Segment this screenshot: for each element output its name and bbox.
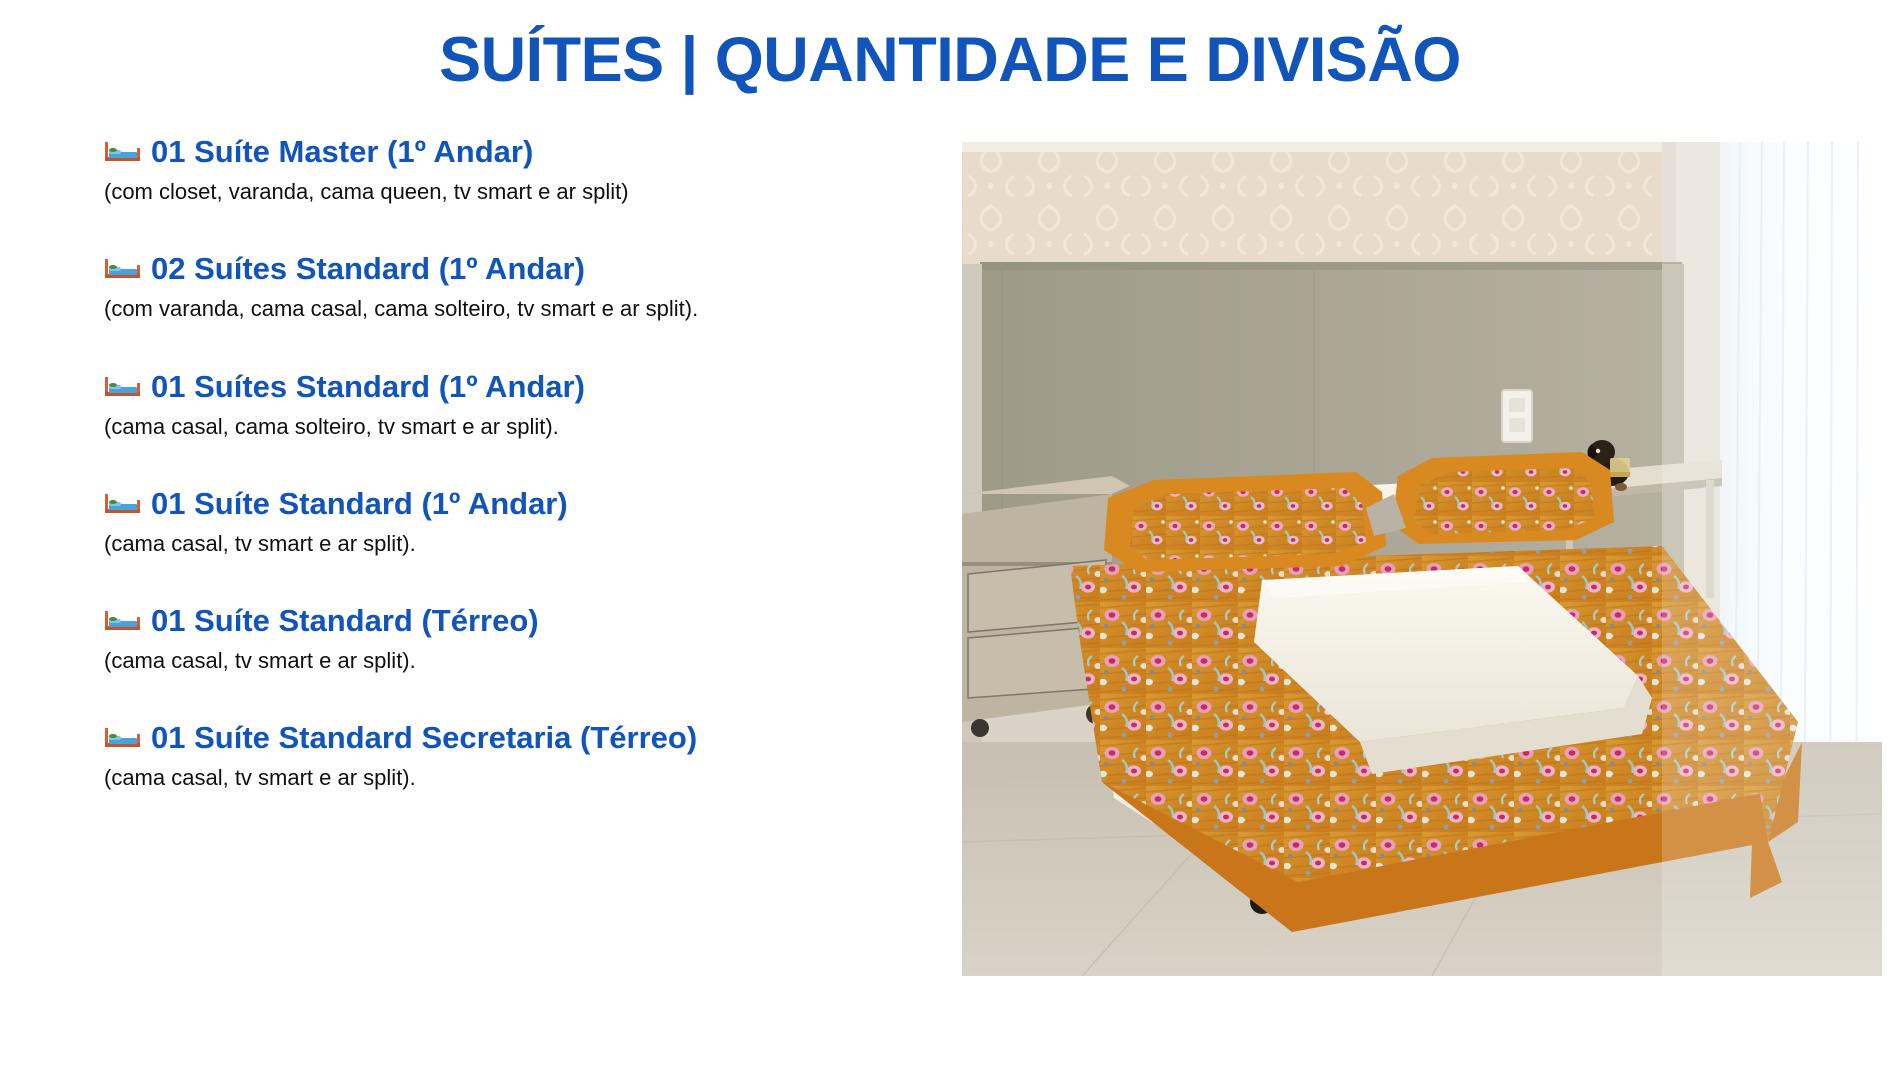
suite-heading: 01 Suíte Master (1º Andar) bbox=[151, 136, 533, 167]
bed-icon bbox=[104, 609, 142, 632]
suite-details: (cama casal, tv smart e ar split). bbox=[104, 765, 934, 790]
suite-heading-row: 02 Suítes Standard (1º Andar) bbox=[104, 253, 934, 284]
pillow-left bbox=[1104, 472, 1386, 572]
light-switch-icon bbox=[1502, 390, 1532, 442]
list-item: 01 Suíte Standard (1º Andar) (cama casal… bbox=[104, 488, 934, 556]
bedroom-photo bbox=[962, 142, 1882, 976]
bed-icon bbox=[104, 257, 142, 280]
list-item: 01 Suíte Master (1º Andar) (com closet, … bbox=[104, 136, 934, 204]
suite-heading-row: 01 Suíte Master (1º Andar) bbox=[104, 136, 934, 167]
suite-heading-row: 01 Suíte Standard (1º Andar) bbox=[104, 488, 934, 519]
list-item: 01 Suíte Standard Secretaria (Térreo) (c… bbox=[104, 722, 934, 790]
suite-heading: 01 Suíte Standard (Térreo) bbox=[151, 605, 539, 636]
bed-icon bbox=[104, 492, 142, 515]
suite-heading-row: 01 Suíte Standard Secretaria (Térreo) bbox=[104, 722, 934, 753]
suite-details: (cama casal, tv smart e ar split). bbox=[104, 648, 934, 673]
suite-heading-row: 01 Suítes Standard (1º Andar) bbox=[104, 371, 934, 402]
slide-root: SUÍTES | QUANTIDADE E DIVISÃO 01 Suíte M… bbox=[0, 0, 1900, 1069]
suite-details: (cama casal, tv smart e ar split). bbox=[104, 531, 934, 556]
page-title: SUÍTES | QUANTIDADE E DIVISÃO bbox=[0, 24, 1900, 96]
list-item: 01 Suíte Standard (Térreo) (cama casal, … bbox=[104, 605, 934, 673]
list-item: 01 Suítes Standard (1º Andar) (cama casa… bbox=[104, 371, 934, 439]
bed-icon bbox=[104, 140, 142, 163]
pillow-right bbox=[1392, 452, 1614, 544]
suite-details: (com closet, varanda, cama queen, tv sma… bbox=[104, 179, 934, 204]
suite-heading-row: 01 Suíte Standard (Térreo) bbox=[104, 605, 934, 636]
suite-details: (com varanda, cama casal, cama solteiro,… bbox=[104, 296, 934, 321]
suite-heading: 02 Suítes Standard (1º Andar) bbox=[151, 253, 585, 284]
bed-icon bbox=[104, 726, 142, 749]
suite-details: (cama casal, cama solteiro, tv smart e a… bbox=[104, 414, 934, 439]
list-item: 02 Suítes Standard (1º Andar) (com varan… bbox=[104, 253, 934, 321]
suite-heading: 01 Suíte Standard (1º Andar) bbox=[151, 488, 568, 519]
suites-list: 01 Suíte Master (1º Andar) (com closet, … bbox=[104, 136, 934, 791]
bedroom-photo-illustration bbox=[962, 142, 1882, 976]
suite-heading: 01 Suítes Standard (1º Andar) bbox=[151, 371, 585, 402]
suite-heading: 01 Suíte Standard Secretaria (Térreo) bbox=[151, 722, 697, 753]
bed-icon bbox=[104, 375, 142, 398]
